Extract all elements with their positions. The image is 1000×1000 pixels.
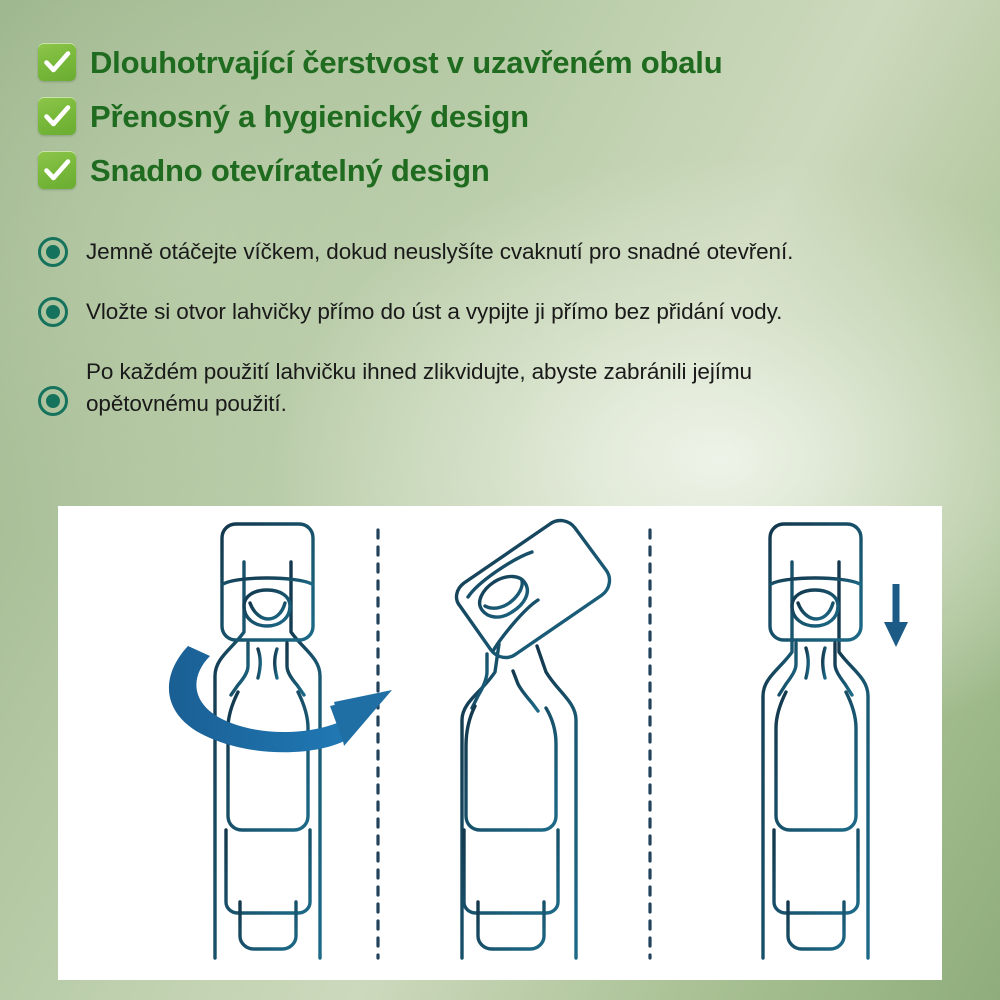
press-cap-step [763,524,868,958]
down-arrow-icon [884,584,908,647]
rotate-arrow-icon [169,646,392,752]
usage-illustration-svg [58,506,942,980]
instruction-label-block: Po každém použití lahvičku ihned zlikvid… [86,356,752,420]
check-square-icon [38,151,76,189]
feature-headline-list: Dlouhotrvající čerstvost v uzavřeném oba… [38,40,980,202]
radio-dot-icon [38,297,68,327]
instruction-list: Jemně otáčejte víčkem, dokud neuslyšíte … [38,236,986,420]
feature-headline-label: Dlouhotrvající čerstvost v uzavřeném oba… [90,47,722,78]
instruction-label: Jemně otáčejte víčkem, dokud neuslyšíte … [86,236,793,268]
radio-dot-icon [38,386,68,416]
instruction-item: Vložte si otvor lahvičky přímo do úst a … [38,296,986,328]
instruction-item: Po každém použití lahvičku ihned zlikvid… [38,356,986,420]
instruction-label-line1: Po každém použití lahvičku ihned zlikvid… [86,359,752,384]
check-square-icon [38,97,76,135]
instruction-item: Jemně otáčejte víčkem, dokud neuslyšíte … [38,236,986,268]
promo-page: Dlouhotrvající čerstvost v uzavřeném oba… [0,0,1000,1000]
check-square-icon [38,43,76,81]
feature-headline-item: Přenosný a hygienický design [38,94,980,138]
usage-illustration-panel [58,506,942,980]
feature-headline-label: Přenosný a hygienický design [90,101,529,132]
radio-dot-icon [38,237,68,267]
instruction-label: Vložte si otvor lahvičky přímo do úst a … [86,296,782,328]
feature-headline-item: Dlouhotrvající čerstvost v uzavřeném oba… [38,40,980,84]
feature-headline-label: Snadno otevíratelný design [90,155,490,186]
remove-cap-step [457,521,610,958]
feature-headline-item: Snadno otevíratelný design [38,148,980,192]
instruction-label-line2: opětovnému použití. [86,391,287,416]
